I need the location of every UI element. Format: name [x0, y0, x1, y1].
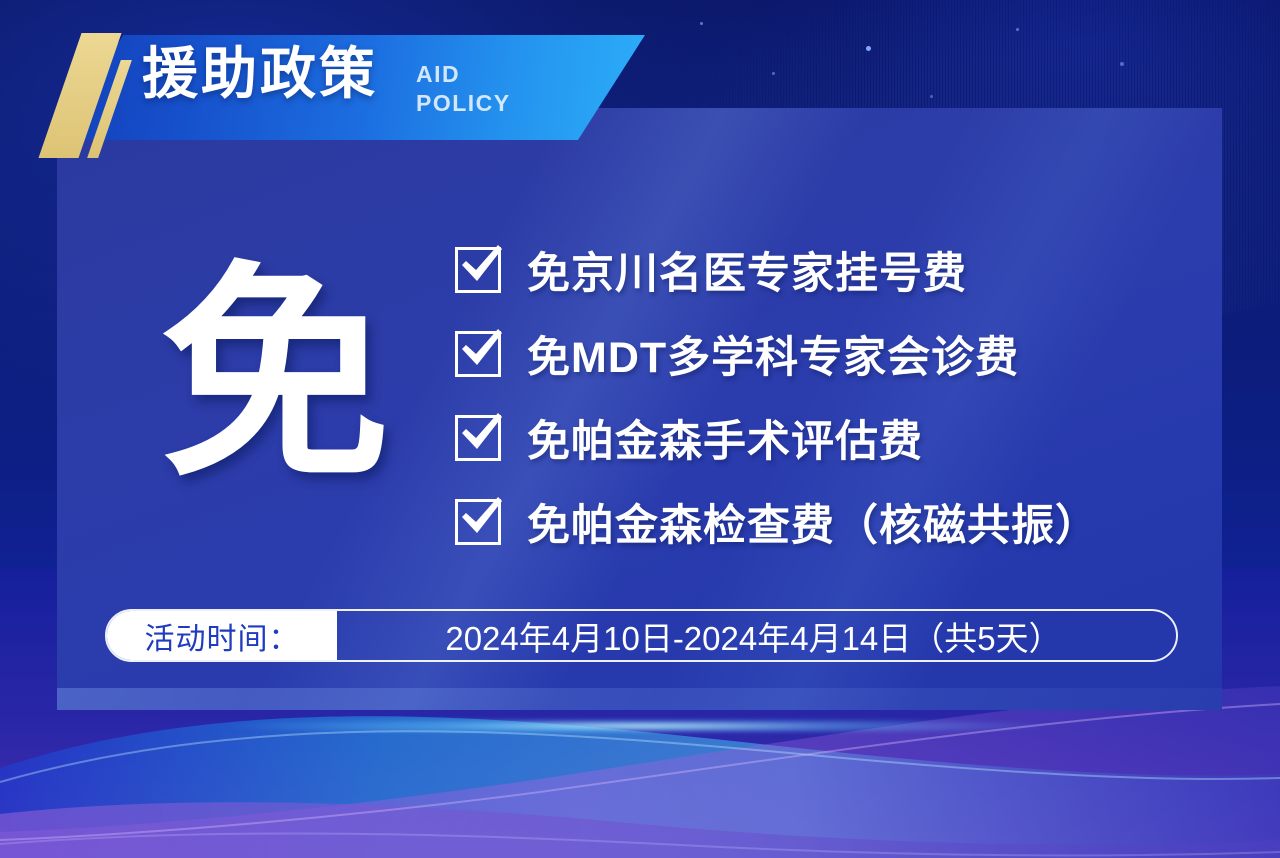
event-date-bar: 活动时间： 2024年4月10日-2024年4月14日（共5天）: [105, 609, 1178, 662]
wave-highlight-glow: [77, 720, 1203, 732]
star-speck: [930, 95, 933, 98]
banner-subtitle-line-1: AID: [416, 60, 511, 89]
benefits-list: 免京川名医专家挂号费 免MDT多学科专家会诊费 免帕金森手术评估费: [455, 228, 1195, 564]
checkbox-checked-icon: [455, 415, 501, 461]
star-speck: [700, 22, 703, 25]
list-item-label: 免帕金森检查费（核磁共振）: [527, 491, 1099, 553]
list-item: 免京川名医专家挂号费: [455, 228, 1195, 312]
checkbox-checked-icon: [455, 247, 501, 293]
checkmark-icon: [454, 321, 508, 375]
list-item-label: 免京川名医专家挂号费: [527, 239, 967, 301]
list-item: 免帕金森检查费（核磁共振）: [455, 480, 1195, 564]
list-item: 免帕金森手术评估费: [455, 396, 1195, 480]
event-date-label: 活动时间：: [107, 611, 337, 660]
hero-character: 免: [160, 262, 390, 492]
list-item-label: 免帕金森手术评估费: [527, 407, 923, 469]
event-date-value: 2024年4月10日-2024年4月14日（共5天）: [337, 611, 1176, 660]
list-item-label: 免MDT多学科专家会诊费: [527, 323, 1019, 385]
banner-subtitle-line-2: POLICY: [416, 89, 511, 118]
poster-canvas: 援助政策 AID POLICY 免 免京川名医专家挂号费 免MDT多学科专家会诊…: [0, 0, 1280, 858]
star-speck: [1016, 28, 1019, 31]
banner-title: 援助政策: [142, 46, 378, 102]
checkmark-icon: [454, 237, 508, 291]
banner-subtitle: AID POLICY: [416, 60, 511, 119]
checkbox-checked-icon: [455, 499, 501, 545]
panel-bottom-strip: [57, 688, 1222, 710]
checkbox-checked-icon: [455, 331, 501, 377]
list-item: 免MDT多学科专家会诊费: [455, 312, 1195, 396]
star-speck: [866, 46, 871, 51]
checkmark-icon: [454, 489, 508, 543]
checkmark-icon: [454, 405, 508, 459]
star-speck: [1120, 62, 1124, 66]
star-speck: [772, 72, 775, 75]
